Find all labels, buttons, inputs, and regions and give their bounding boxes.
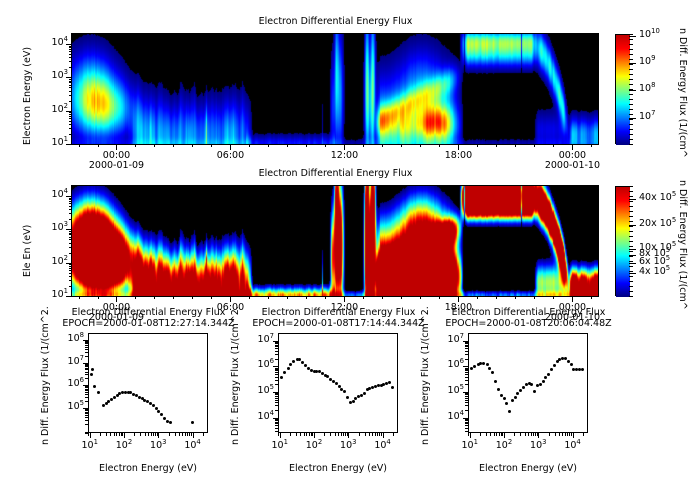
lineplot-ytick-minor <box>275 369 278 370</box>
lineplot-xtick <box>504 433 505 438</box>
lineplot-ytick-minor <box>465 348 468 349</box>
ytick-label: 103 <box>36 70 68 81</box>
lineplot-1[interactable] <box>88 333 208 433</box>
lineplot-ytick-minor <box>465 431 468 432</box>
lineplot-ytick-minor <box>275 345 278 346</box>
xtick-minor <box>98 296 99 299</box>
xtick-minor <box>211 144 212 147</box>
ytick-minor <box>69 134 72 135</box>
cbar-tick-minor <box>629 261 633 262</box>
ytick-label: 104 <box>36 189 68 200</box>
ytick-minor <box>69 286 72 287</box>
ytick-minor <box>69 61 72 62</box>
lineplot-xtick-minor <box>203 433 204 436</box>
lineplot-xtick-minor <box>169 433 170 436</box>
lineplot-ylabel-1: n Diff. Energy Flux (1/(cm^2. <box>40 306 51 445</box>
lineplot-xtick-minor <box>300 433 301 436</box>
lineplot-xtick-minor <box>559 433 560 436</box>
lineplot-ytick-label: 104 <box>238 411 274 422</box>
lineplot-ytick-minor <box>85 347 88 348</box>
cbar-tick-major <box>629 90 636 91</box>
lineplot-ytick-minor <box>465 351 468 352</box>
lineplot-xtick-minor <box>330 433 331 436</box>
lineplot-xtick-minor <box>110 433 111 436</box>
lineplot-ytick-minor <box>465 345 468 346</box>
cbar-tick-minor <box>629 114 633 115</box>
lineplot-xtick-minor <box>324 433 325 436</box>
lineplot-ytick-minor <box>85 372 88 373</box>
lineplot-xtick <box>90 433 91 438</box>
lineplot-ytick-minor <box>85 374 88 375</box>
lineplot-xtick <box>383 433 384 438</box>
lineplot-ytick-label: 105 <box>48 401 84 412</box>
lineplot-ytick-minor <box>275 359 278 360</box>
xtick-minor <box>306 144 307 147</box>
data-point <box>335 382 338 385</box>
lineplot-xtick-minor <box>185 433 186 436</box>
lineplot-xtick <box>158 433 159 438</box>
xtick-minor <box>325 296 326 299</box>
lineplot-xtick-minor <box>296 433 297 436</box>
lineplot-xtick-minor <box>134 433 135 436</box>
ytick-minor <box>69 239 72 240</box>
lineplot-ytick-minor <box>275 394 278 395</box>
lineplot-ytick-minor <box>85 424 88 425</box>
lineplot-xtick-minor <box>490 433 491 436</box>
lineplot-ytick-minor <box>85 413 88 414</box>
xtick-minor <box>477 144 478 147</box>
cbar-tick-label: 4x 105 <box>639 266 670 277</box>
lineplot-xtick-minor <box>514 433 515 436</box>
xtick-minor <box>154 296 155 299</box>
top-panel-title: Electron Differential Energy Flux <box>72 16 599 27</box>
lineplot-ytick-minor <box>275 354 278 355</box>
lineplot-ylabel-2: n Diff. Energy Flux (1/(cm^2. <box>230 306 241 445</box>
lineplot-ytick-minor <box>85 412 88 413</box>
lineplot-ytick-label: 106 <box>428 359 464 370</box>
xtick-minor <box>287 144 288 147</box>
top-colorbar-label: n Diff. Energy Flux (1/(cm^ <box>677 28 688 158</box>
cbar-tick-minor <box>629 206 633 207</box>
lineplot-ytick-minor <box>275 370 278 371</box>
lineplot-ytick-label: 106 <box>238 359 274 370</box>
lineplot-ytick-minor <box>85 349 88 350</box>
ytick-minor <box>69 79 72 80</box>
xtick-minor <box>515 296 516 299</box>
lineplot-ytick-minor <box>465 372 468 373</box>
ytick-minor <box>69 85 72 86</box>
cbar-tick-major <box>629 199 636 200</box>
lineplot-ytick-minor <box>85 342 88 343</box>
lineplot-ytick-label: 105 <box>238 385 274 396</box>
data-point <box>152 404 155 407</box>
xtick-minor <box>79 144 80 147</box>
ytick-minor <box>69 91 72 92</box>
ytick-minor <box>69 209 72 210</box>
lineplot-xtick-minor <box>122 433 123 436</box>
lineplot-ytick-minor <box>465 420 468 421</box>
lineplot-ytick-minor <box>465 423 468 424</box>
lineplot-xtick-minor <box>278 433 279 436</box>
lineplot-xtick-minor <box>345 433 346 436</box>
lineplot-ytick-minor <box>275 368 278 369</box>
lineplot-ytick-minor <box>275 342 278 343</box>
lineplot-ytick-label: 108 <box>48 333 84 344</box>
ytick-minor <box>69 219 72 220</box>
cbar-tick-minor <box>629 241 633 242</box>
lineplot-ytick-minor <box>275 398 278 399</box>
ytick-label: 101 <box>36 289 68 300</box>
lineplot-xlabel-3: Electron Energy (eV) <box>428 463 628 474</box>
lineplot-ytick-minor <box>85 401 88 402</box>
cbar-tick-label: 40x 105 <box>639 192 676 203</box>
xtick-minor <box>268 296 269 299</box>
ytick-minor <box>69 49 72 50</box>
lineplot-xtick-minor <box>312 433 313 436</box>
ytick-minor <box>69 213 72 214</box>
cbar-tick-minor <box>629 266 633 267</box>
lineplot-ytick-minor <box>465 402 468 403</box>
xtick-minor <box>268 144 269 147</box>
lineplot-xtick-minor <box>565 433 566 436</box>
lineplot-xtick-minor <box>187 433 188 436</box>
lineplot-ytick-minor <box>275 431 278 432</box>
cbar-tick-minor <box>629 134 633 135</box>
mid-panel-ylabel: Ele En (eV) <box>22 225 33 277</box>
data-point <box>553 364 556 367</box>
data-point <box>514 396 517 399</box>
cbar-tick-minor <box>629 286 633 287</box>
xtick-minor <box>135 296 136 299</box>
data-point <box>97 391 100 394</box>
data-point <box>508 410 511 413</box>
cbar-tick-minor <box>629 124 633 125</box>
lineplot-ytick-minor <box>85 364 88 365</box>
lineplot-ytick-minor <box>465 405 468 406</box>
ytick-minor <box>69 82 72 83</box>
lineplot-ytick-label: 107 <box>48 356 84 367</box>
ytick-label: 104 <box>36 37 68 48</box>
lineplot-2[interactable] <box>278 333 398 433</box>
ytick-minor <box>69 101 72 102</box>
xtick-minor <box>287 296 288 299</box>
lineplot-ytick-minor <box>85 417 88 418</box>
lineplot-ytick-minor <box>465 368 468 369</box>
ytick-minor <box>69 47 72 48</box>
ytick-minor <box>69 247 72 248</box>
top-colorbar[interactable] <box>615 34 629 144</box>
lineplot-ytick-minor <box>465 374 468 375</box>
lineplot-xtick-minor <box>480 433 481 436</box>
lineplot-xtick-minor <box>468 433 469 436</box>
lineplot-ytick-minor <box>465 428 468 429</box>
xtick-minor <box>591 144 592 147</box>
lineplot-xtick-minor <box>535 433 536 436</box>
xtick-minor <box>325 144 326 147</box>
lineplot-xtick <box>124 433 125 438</box>
lineplot-ytick-minor <box>275 410 278 411</box>
lineplot-xtick-minor <box>528 433 529 436</box>
lineplot-xtick-minor <box>145 433 146 436</box>
data-point <box>391 386 394 389</box>
lineplot-ytick-minor <box>465 419 468 420</box>
cbar-tick-minor <box>629 119 633 120</box>
lineplot-xtick-minor <box>148 433 149 436</box>
cbar-tick-minor <box>629 139 633 140</box>
ytick-minor <box>69 233 72 234</box>
ytick-label: 103 <box>36 222 68 233</box>
lineplot-ytick-minor <box>465 400 468 401</box>
lineplot-xtick-minor <box>309 433 310 436</box>
data-point <box>169 421 172 424</box>
data-point <box>581 368 584 371</box>
cbar-tick-major <box>629 36 636 37</box>
mid-colorbar[interactable] <box>615 186 629 296</box>
cbar-tick-minor <box>629 231 633 232</box>
lineplot-ytick-minor <box>275 428 278 429</box>
lineplot-ytick-minor <box>85 369 88 370</box>
xtick-minor <box>553 144 554 147</box>
lineplot-ytick-label: 107 <box>238 334 274 345</box>
lineplot-ytick-minor <box>275 420 278 421</box>
lineplot-xtick-minor <box>151 433 152 436</box>
lineplot-xtick-minor <box>338 433 339 436</box>
lineplot-xtick-minor <box>377 433 378 436</box>
xtick-minor <box>211 296 212 299</box>
lineplot-ytick-minor <box>275 351 278 352</box>
cbar-tick-minor <box>629 44 633 45</box>
lineplot-xtick-minor <box>531 433 532 436</box>
lineplot-ytick-minor <box>465 393 468 394</box>
ytick-minor <box>69 206 72 207</box>
cbar-tick-minor <box>629 271 633 272</box>
cbar-tick-minor <box>629 94 633 95</box>
lineplot-ytick-minor <box>85 366 88 367</box>
cbar-tick-minor <box>629 251 633 252</box>
lineplot-ytick-minor <box>465 377 468 378</box>
xtick-minor <box>192 296 193 299</box>
lineplot-xtick-minor <box>153 433 154 436</box>
xtick-minor <box>534 296 535 299</box>
lineplot-ytick-minor <box>275 396 278 397</box>
ytick-minor <box>69 87 72 88</box>
lineplot-xtick-minor <box>369 433 370 436</box>
cbar-tick-minor <box>629 54 633 55</box>
lineplot-xtick-minor <box>502 433 503 436</box>
lineplot-ytick-minor <box>275 393 278 394</box>
ytick-minor <box>69 81 72 82</box>
lineplot-xtick-minor <box>175 433 176 436</box>
xtick-minor <box>173 296 174 299</box>
xtick-minor <box>496 296 497 299</box>
lineplot-xtick-minor <box>182 433 183 436</box>
lineplot-ytick-minor <box>85 387 88 388</box>
cbar-tick-minor <box>629 211 633 212</box>
lineplot-ytick-minor <box>85 365 88 366</box>
lineplot-ytick-minor <box>465 342 468 343</box>
lineplot-ytick-minor <box>465 346 468 347</box>
ytick-minor <box>69 199 72 200</box>
ytick-minor <box>69 116 72 117</box>
xtick-minor <box>420 144 421 147</box>
lineplot-ytick-minor <box>275 346 278 347</box>
lineplot-ytick-minor <box>85 368 88 369</box>
xtick-minor <box>439 296 440 299</box>
cbar-tick-major <box>629 263 636 264</box>
ytick-minor <box>69 128 72 129</box>
mid-colorbar-label: n Diff. Energy Flux (1/(cm^ <box>677 180 688 310</box>
data-point <box>503 397 506 400</box>
xtick-label: 12:00 <box>314 150 374 161</box>
xtick-minor <box>173 144 174 147</box>
xtick-minor <box>401 144 402 147</box>
lineplot-ytick-minor <box>465 394 468 395</box>
cbar-tick-minor <box>629 64 633 65</box>
data-point <box>539 383 542 386</box>
lineplot-xtick-minor <box>114 433 115 436</box>
lineplot-ytick-minor <box>85 415 88 416</box>
lineplot-xtick-minor <box>116 433 117 436</box>
lineplot-xtick-minor <box>583 433 584 436</box>
cbar-tick-minor <box>629 39 633 40</box>
lineplot-ytick-minor <box>85 341 88 342</box>
lineplot-ytick-minor <box>85 352 88 353</box>
ytick-minor <box>69 264 72 265</box>
cbar-tick-minor <box>629 99 633 100</box>
data-point <box>287 367 290 370</box>
cbar-tick-minor <box>629 49 633 50</box>
xtick-minor <box>249 296 250 299</box>
lineplot-xtick-minor <box>155 433 156 436</box>
lineplot-ytick-minor <box>85 410 88 411</box>
lineplot-xtick-minor <box>537 433 538 436</box>
xtick-minor <box>477 296 478 299</box>
cbar-tick-minor <box>629 79 633 80</box>
lineplot-ytick-minor <box>275 425 278 426</box>
lineplot-xtick-minor <box>499 433 500 436</box>
lineplot-xtick-minor <box>372 433 373 436</box>
lineplot-xtick-minor <box>533 433 534 436</box>
lineplot-ytick-minor <box>85 343 88 344</box>
lineplot-xtick-minor <box>304 433 305 436</box>
ytick-label: 101 <box>36 137 68 148</box>
cbar-tick-minor <box>629 216 633 217</box>
data-point <box>363 392 366 395</box>
cbar-tick-minor <box>629 191 633 192</box>
lineplot-xtick-minor <box>365 433 366 436</box>
lineplot-xtick-minor <box>379 433 380 436</box>
cbar-tick-minor <box>629 34 633 35</box>
lineplot-xtick-minor <box>140 433 141 436</box>
lineplot-ytick-minor <box>465 380 468 381</box>
ytick-minor <box>69 270 72 271</box>
lineplot-ytick-minor <box>275 380 278 381</box>
lineplot-xtick-minor <box>191 433 192 436</box>
data-point <box>486 363 489 366</box>
xtick-minor <box>496 144 497 147</box>
lineplot-xtick-minor <box>571 433 572 436</box>
lineplot-xtick-minor <box>359 433 360 436</box>
data-point <box>497 388 500 391</box>
cbar-tick-minor <box>629 201 633 202</box>
lineplot-xtick-minor <box>375 433 376 436</box>
data-point <box>283 371 286 374</box>
lineplot-ytick-minor <box>275 384 278 385</box>
lineplot-ytick-minor <box>465 369 468 370</box>
cbar-tick-label: 108 <box>639 83 655 94</box>
data-point <box>570 363 573 366</box>
lineplot-xtick-minor <box>393 433 394 436</box>
xtick-minor <box>192 144 193 147</box>
lineplot-ytick-minor <box>85 397 88 398</box>
lineplot-ytick-minor <box>465 410 468 411</box>
lineplot-ytick-minor <box>465 359 468 360</box>
lineplot-ytick-minor <box>275 348 278 349</box>
lineplot-ytick-minor <box>465 370 468 371</box>
ytick-minor <box>69 280 72 281</box>
top-spectrogram-frame <box>71 33 599 145</box>
ytick-minor <box>69 201 72 202</box>
ytick-minor <box>69 203 72 204</box>
lineplot-ytick-minor <box>275 372 278 373</box>
cbar-tick-minor <box>629 89 633 90</box>
lineplot-xtick-minor <box>290 433 291 436</box>
lineplot-xtick-minor <box>555 433 556 436</box>
lineplot-ytick-minor <box>85 356 88 357</box>
ytick-minor <box>69 266 72 267</box>
lineplot-xtick-minor <box>569 433 570 436</box>
lineplot-ytick-minor <box>275 419 278 420</box>
lineplot-ytick-minor <box>85 420 88 421</box>
xtick-minor <box>382 144 383 147</box>
cbar-tick-minor <box>629 186 633 187</box>
top-panel-ylabel: Electron Energy (eV) <box>22 47 33 145</box>
lineplot-xtick-minor <box>347 433 348 436</box>
cbar-tick-minor <box>629 74 633 75</box>
xtick-minor <box>382 296 383 299</box>
ytick-minor <box>69 67 72 68</box>
lineplot-xtick-minor <box>486 433 487 436</box>
lineplot-xtick-minor <box>520 433 521 436</box>
ytick-minor <box>69 276 72 277</box>
cbar-tick-minor <box>629 276 633 277</box>
lineplot-xtick-minor <box>343 433 344 436</box>
xtick-minor <box>135 144 136 147</box>
xtick-minor <box>79 296 80 299</box>
ytick-minor <box>69 268 72 269</box>
lineplot-xtick-minor <box>381 433 382 436</box>
lineplot-xtick-label: 104 <box>173 440 213 451</box>
ytick-minor <box>69 118 72 119</box>
lineplot-ytick-minor <box>85 378 88 379</box>
lineplot-ytick-label: 107 <box>428 334 464 345</box>
ytick-minor <box>69 231 72 232</box>
cbar-tick-major <box>629 249 636 250</box>
lineplot-ytick-minor <box>85 394 88 395</box>
cbar-tick-minor <box>629 104 633 105</box>
lineplot-xtick-minor <box>157 433 158 436</box>
lineplot-xtick-minor <box>306 433 307 436</box>
ytick-minor <box>69 198 72 199</box>
lineplot-xlabel-2: Electron Energy (eV) <box>238 463 438 474</box>
ytick-minor <box>69 112 72 113</box>
ytick-minor <box>69 95 72 96</box>
ytick-minor <box>69 114 72 115</box>
lineplot-xtick-minor <box>335 433 336 436</box>
lineplot-xtick-minor <box>562 433 563 436</box>
data-point <box>91 368 94 371</box>
xtick-label: 18:00 <box>428 150 488 161</box>
